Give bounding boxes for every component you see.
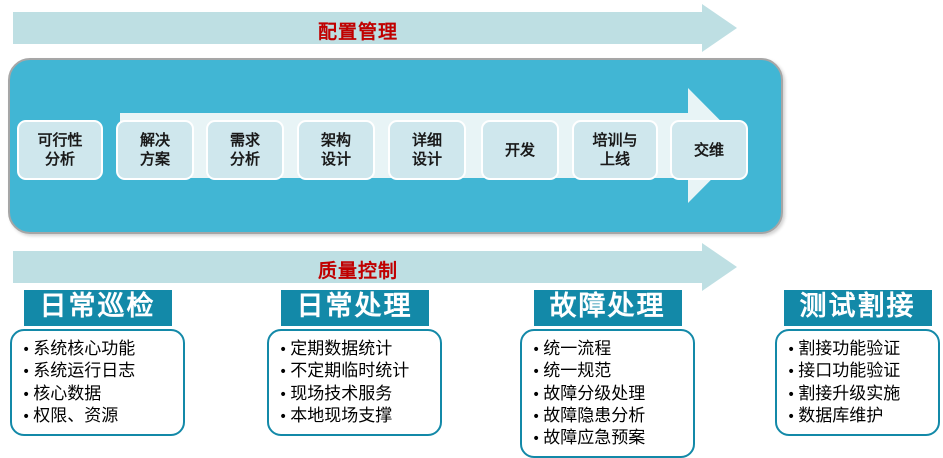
bullet-icon: • <box>787 343 795 357</box>
ops-item-list: •割接功能验证 •接口功能验证 •割接升级实施 •数据库维护 <box>787 338 932 426</box>
bullet-icon: • <box>532 410 540 424</box>
list-item-label: 割接功能验证 <box>798 338 900 360</box>
list-item: •故障分级处理 <box>532 383 687 405</box>
list-item: •数据库维护 <box>787 405 932 427</box>
configuration-management-arrow: 配置管理 <box>13 4 737 52</box>
ops-card-title: 日常处理 <box>281 290 429 326</box>
list-item-label: 核心数据 <box>33 383 101 405</box>
list-item: •故障应急预案 <box>532 427 687 449</box>
bullet-icon: • <box>22 410 30 424</box>
bullet-icon: • <box>532 365 540 379</box>
list-item: •本地现场支撑 <box>279 405 434 427</box>
ops-card-body: •统一流程 •统一规范 •故障分级处理 •故障隐患分析 •故障应急预案 <box>520 329 695 457</box>
bullet-icon: • <box>279 365 287 379</box>
top-banner-label: 配置管理 <box>13 17 703 44</box>
list-item: •不定期临时统计 <box>279 360 434 382</box>
bullet-icon: • <box>279 343 287 357</box>
ops-card-test-cutover[interactable]: 测试割接 •割接功能验证 •接口功能验证 •割接升级实施 •数据库维护 <box>775 290 940 436</box>
bullet-icon: • <box>532 343 540 357</box>
bullet-icon: • <box>787 388 795 402</box>
stage-box-6[interactable]: 开发 <box>481 120 559 180</box>
list-item: •定期数据统计 <box>279 338 434 360</box>
ops-card-body: •割接功能验证 •接口功能验证 •割接升级实施 •数据库维护 <box>775 329 940 435</box>
ops-card-title: 故障处理 <box>534 290 682 326</box>
bullet-icon: • <box>532 432 540 446</box>
stage-box-7[interactable]: 培训与 上线 <box>572 120 658 180</box>
stage-box-2[interactable]: 解决 方案 <box>116 120 194 180</box>
bullet-icon: • <box>532 388 540 402</box>
ops-card-fault-handling[interactable]: 故障处理 •统一流程 •统一规范 •故障分级处理 •故障隐患分析 •故障应急预案 <box>520 290 695 458</box>
quality-control-arrow: 质量控制 <box>13 243 737 291</box>
list-item-label: 割接升级实施 <box>798 383 900 405</box>
list-item-label: 本地现场支撑 <box>290 405 392 427</box>
list-item: •故障隐患分析 <box>532 405 687 427</box>
stage-box-4[interactable]: 架构 设计 <box>297 120 375 180</box>
list-item: •权限、资源 <box>22 405 177 427</box>
bullet-icon: • <box>787 410 795 424</box>
bullet-icon: • <box>22 365 30 379</box>
list-item-label: 统一流程 <box>543 338 611 360</box>
stage-box-1[interactable]: 可行性 分析 <box>17 120 103 180</box>
list-item-label: 数据库维护 <box>798 405 883 427</box>
stage-box-3[interactable]: 需求 分析 <box>206 120 284 180</box>
ops-card-daily-inspection[interactable]: 日常巡检 •系统核心功能 •系统运行日志 •核心数据 •权限、资源 <box>10 290 185 436</box>
list-item-label: 系统核心功能 <box>33 338 135 360</box>
ops-item-list: •定期数据统计 •不定期临时统计 •现场技术服务 •本地现场支撑 <box>279 338 434 426</box>
list-item: •现场技术服务 <box>279 383 434 405</box>
list-item-label: 定期数据统计 <box>290 338 392 360</box>
ops-card-body: •定期数据统计 •不定期临时统计 •现场技术服务 •本地现场支撑 <box>267 329 442 435</box>
bottom-banner-label: 质量控制 <box>13 256 703 283</box>
list-item-label: 接口功能验证 <box>798 360 900 382</box>
list-item: •系统核心功能 <box>22 338 177 360</box>
list-item-label: 统一规范 <box>543 360 611 382</box>
list-item: •核心数据 <box>22 383 177 405</box>
bullet-icon: • <box>22 343 30 357</box>
lifecycle-panel: 可行性 分析 解决 方案 需求 分析 架构 设计 详细 设计 开发 培训与 上线… <box>8 58 783 234</box>
list-item: •接口功能验证 <box>787 360 932 382</box>
bullet-icon: • <box>279 388 287 402</box>
list-item: •系统运行日志 <box>22 360 177 382</box>
stage-box-8[interactable]: 交维 <box>670 120 748 180</box>
list-item: •割接升级实施 <box>787 383 932 405</box>
list-item-label: 故障隐患分析 <box>543 405 645 427</box>
list-item-label: 系统运行日志 <box>33 360 135 382</box>
ops-card-body: •系统核心功能 •系统运行日志 •核心数据 •权限、资源 <box>10 329 185 435</box>
list-item-label: 故障应急预案 <box>543 427 645 449</box>
ops-item-list: •统一流程 •统一规范 •故障分级处理 •故障隐患分析 •故障应急预案 <box>532 338 687 448</box>
ops-card-title: 测试割接 <box>784 290 932 326</box>
bullet-icon: • <box>787 365 795 379</box>
list-item-label: 权限、资源 <box>33 405 118 427</box>
list-item-label: 不定期临时统计 <box>290 360 409 382</box>
ops-item-list: •系统核心功能 •系统运行日志 •核心数据 •权限、资源 <box>22 338 177 426</box>
list-item-label: 故障分级处理 <box>543 383 645 405</box>
bullet-icon: • <box>22 388 30 402</box>
stage-box-5[interactable]: 详细 设计 <box>388 120 466 180</box>
list-item: •割接功能验证 <box>787 338 932 360</box>
bullet-icon: • <box>279 410 287 424</box>
ops-card-daily-processing[interactable]: 日常处理 •定期数据统计 •不定期临时统计 •现场技术服务 •本地现场支撑 <box>267 290 442 436</box>
ops-card-title: 日常巡检 <box>24 290 172 326</box>
list-item-label: 现场技术服务 <box>290 383 392 405</box>
list-item: •统一流程 <box>532 338 687 360</box>
list-item: •统一规范 <box>532 360 687 382</box>
